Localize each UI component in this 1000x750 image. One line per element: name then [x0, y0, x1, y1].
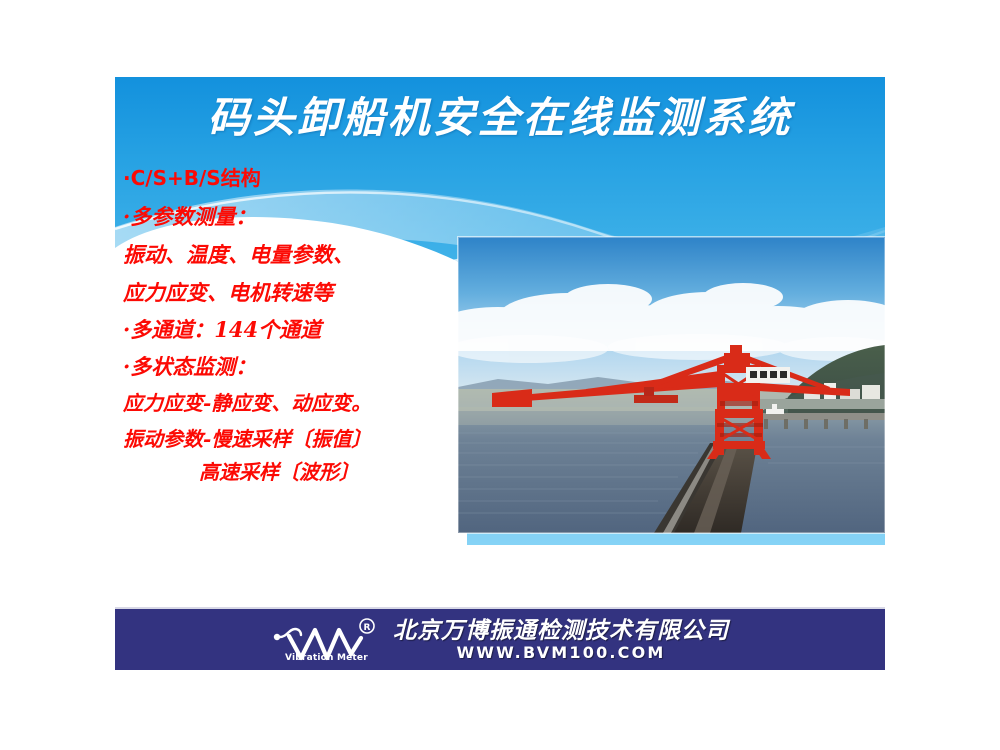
vibration-meter-logo-icon: R Vibration Meter	[271, 618, 379, 664]
list-item: 应力应变-静应变、动应变。	[123, 393, 473, 413]
list-item: ·C/S+B/S结构	[123, 168, 473, 188]
list-item: ·多参数测量：	[123, 206, 473, 227]
company-url[interactable]: WWW.BVM100.COM	[456, 645, 665, 662]
logo-caption: Vibration Meter	[285, 653, 368, 663]
presentation-slide: 码头卸船机安全在线监测系统 ·C/S+B/S结构 ·多参数测量： 振动、温度、电…	[0, 0, 1000, 750]
svg-text:R: R	[364, 623, 371, 633]
footer-text-block: 北京万博振通检测技术有限公司 WWW.BVM100.COM	[393, 619, 729, 662]
list-item: 应力应变、电机转速等	[123, 282, 473, 303]
company-name: 北京万博振通检测技术有限公司	[393, 619, 729, 643]
ship-unloader-photo	[458, 237, 885, 533]
bullet-list: ·C/S+B/S结构 ·多参数测量： 振动、温度、电量参数、 应力应变、电机转速…	[123, 168, 473, 482]
page-title: 码头卸船机安全在线监测系统	[115, 94, 885, 142]
footer-bar: R Vibration Meter 北京万博振通检测技术有限公司 WWW.BVM…	[115, 607, 885, 670]
list-item: 高速采样〔波形〕	[199, 462, 473, 482]
list-item: 振动参数-慢速采样〔振值〕	[123, 429, 473, 449]
list-item: 振动、温度、电量参数、	[123, 244, 473, 265]
list-item: ·多通道：144个通道	[123, 319, 473, 340]
list-item: ·多状态监测：	[123, 356, 473, 377]
